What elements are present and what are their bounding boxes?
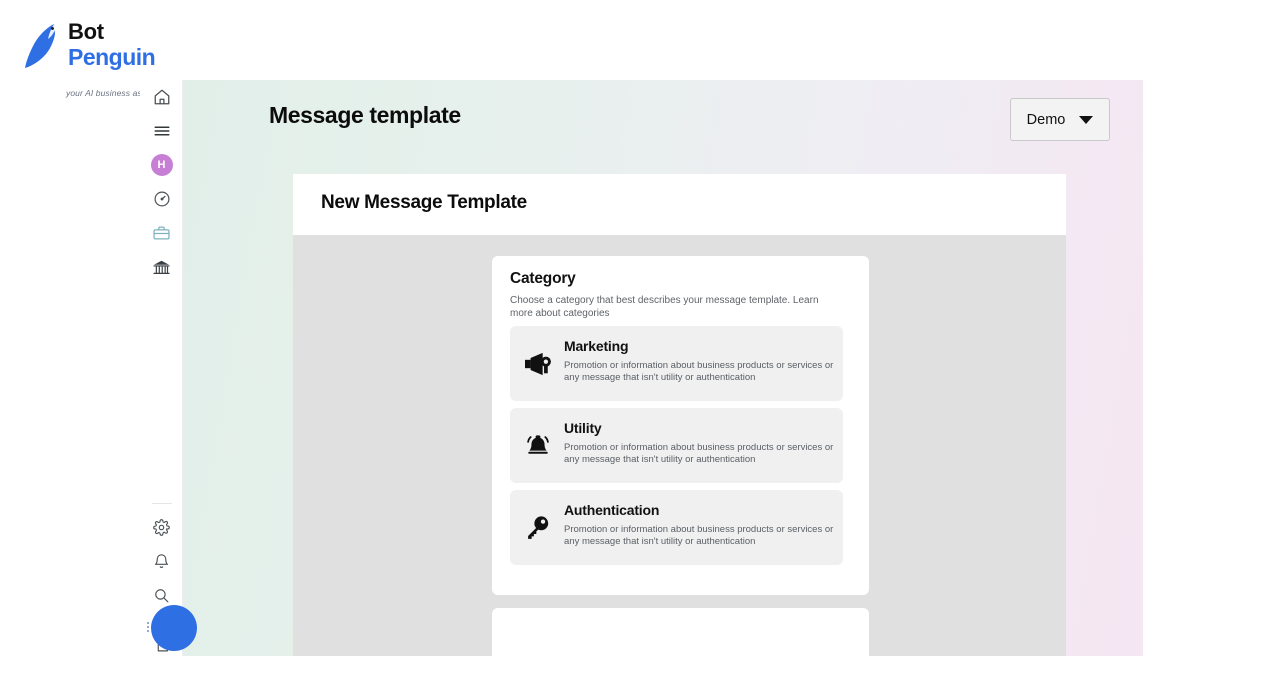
- account-select[interactable]: Demo: [1010, 98, 1110, 141]
- brand-wordmark: Bot Penguin: [68, 20, 155, 70]
- option-description: Promotion or information about business …: [564, 524, 836, 548]
- chevron-down-icon: [1079, 116, 1093, 124]
- category-option-marketing[interactable]: Marketing Promotion or information about…: [510, 326, 843, 401]
- bell-icon: [153, 553, 170, 570]
- brand-name-bot: Bot: [68, 20, 155, 44]
- page-title: Message template: [269, 102, 461, 129]
- option-title: Marketing: [564, 338, 628, 354]
- sheet-title: New Message Template: [321, 192, 527, 214]
- key-glyph: [524, 514, 552, 542]
- option-title: Authentication: [564, 502, 659, 518]
- sidebar-item-settings[interactable]: [140, 510, 183, 544]
- sheet-header: New Message Template: [293, 174, 1066, 235]
- brand-name-penguin: Penguin: [68, 44, 155, 70]
- sidebar-item-avatar[interactable]: H: [140, 148, 183, 182]
- sidebar-item-analytics[interactable]: [140, 182, 183, 216]
- megaphone-icon: [520, 347, 556, 381]
- brand-logo[interactable]: Bot Penguin your AI business assistant: [20, 18, 180, 80]
- penguin-logo-icon: [24, 22, 66, 70]
- category-option-utility[interactable]: Utility Promotion or information about b…: [510, 408, 843, 483]
- search-icon: [153, 587, 170, 604]
- screen-root: Bot Penguin your AI business assistant: [0, 0, 1288, 686]
- sidebar-item-home[interactable]: [140, 80, 183, 114]
- sheet-body: Category Choose a category that best des…: [293, 235, 1066, 656]
- app-viewport: Message template Demo New Message Templa…: [183, 80, 1143, 656]
- gear-icon: [153, 519, 170, 536]
- bank-icon: [152, 258, 171, 277]
- key-icon: [520, 511, 556, 545]
- category-card: Category Choose a category that best des…: [492, 256, 869, 595]
- bell-icon: [520, 429, 556, 463]
- category-option-authentication[interactable]: Authentication Promotion or information …: [510, 490, 843, 565]
- chat-launcher-button[interactable]: [151, 605, 197, 651]
- sidebar-top-group: H: [140, 80, 183, 284]
- sidebar-item-notifications[interactable]: [140, 544, 183, 578]
- sidebar-rail: H: [140, 80, 183, 656]
- home-icon: [153, 88, 171, 106]
- briefcase-icon: [152, 224, 171, 243]
- megaphone-glyph: [523, 351, 553, 377]
- bell-glyph: [524, 432, 552, 460]
- option-description: Promotion or information about business …: [564, 442, 836, 466]
- page-header: Message template Demo: [183, 80, 1143, 175]
- user-avatar: H: [151, 154, 173, 176]
- next-section-card: [492, 608, 869, 656]
- sidebar-item-workspace[interactable]: [140, 216, 183, 250]
- account-select-value: Demo: [1027, 112, 1066, 128]
- sidebar-divider: [152, 503, 172, 504]
- menu-icon: [153, 122, 171, 140]
- category-heading: Category: [510, 270, 576, 288]
- option-description: Promotion or information about business …: [564, 360, 836, 384]
- analytics-icon: [153, 190, 171, 208]
- sidebar-item-menu[interactable]: [140, 114, 183, 148]
- sidebar-item-business[interactable]: [140, 250, 183, 284]
- option-title: Utility: [564, 420, 602, 436]
- category-description: Choose a category that best describes yo…: [510, 294, 842, 320]
